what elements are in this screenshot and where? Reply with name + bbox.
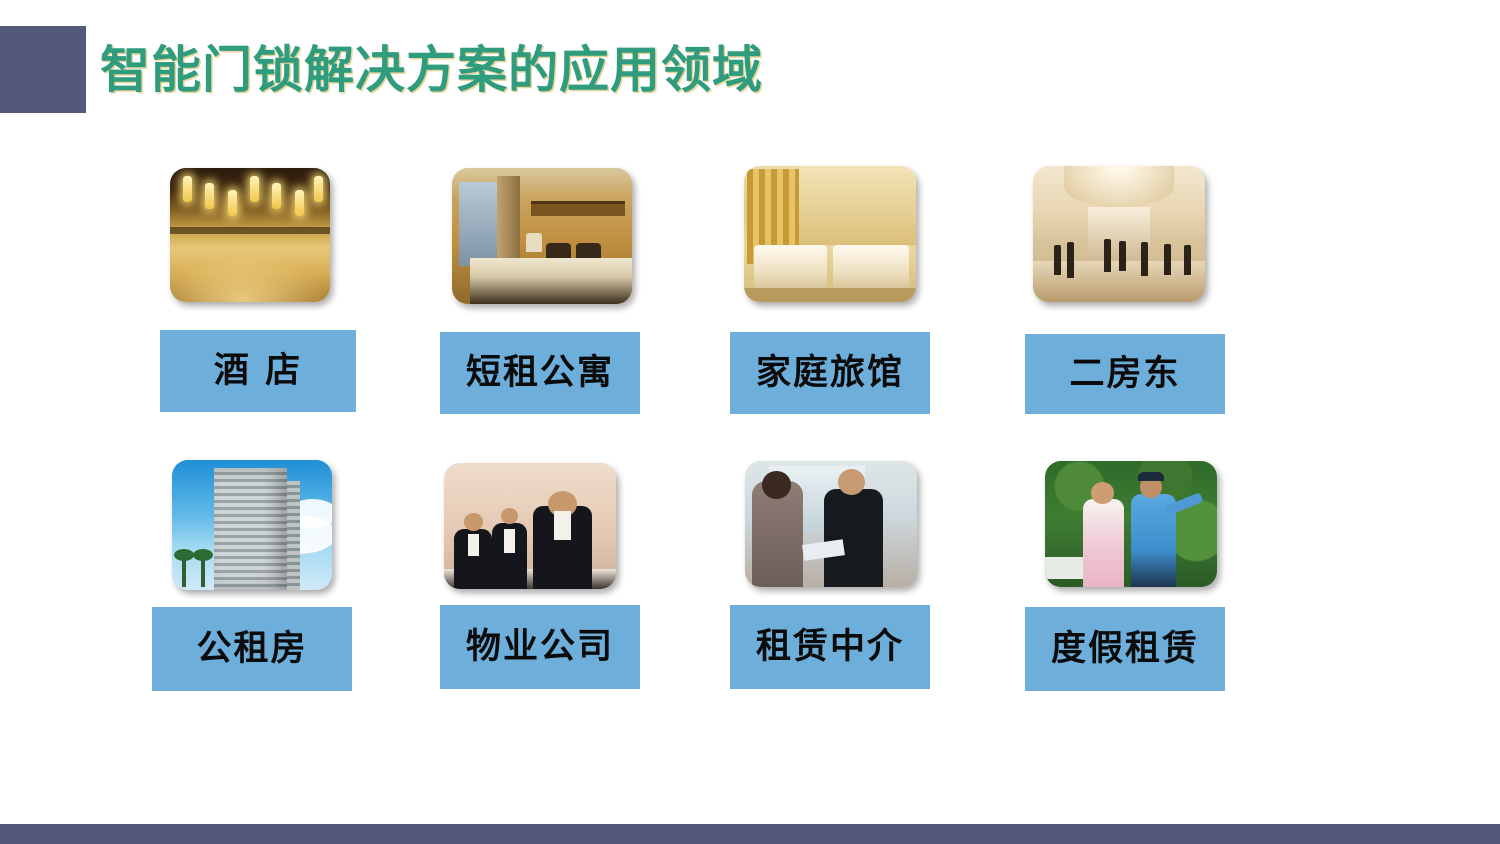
vacation-rental-couple-photo (1045, 461, 1217, 587)
category-label-box: 租赁中介 (730, 605, 930, 689)
thumbnail-artwork (1033, 166, 1205, 302)
thumbnail-artwork (745, 461, 917, 587)
thumbnail-artwork (170, 168, 330, 302)
category-label-text: 酒 店 (214, 354, 302, 389)
grand-lobby-photo (1033, 166, 1205, 302)
category-label-box: 酒 店 (160, 330, 356, 412)
category-label-text: 二房东 (1069, 357, 1180, 392)
thumbnail-artwork (452, 168, 632, 304)
property-management-staff-photo (444, 463, 616, 589)
category-label-text: 短租公寓 (466, 356, 614, 391)
public-rental-highrise-photo (172, 460, 332, 590)
thumbnail-artwork (444, 463, 616, 589)
footer-bar (0, 824, 1500, 844)
leasing-agent-photo (745, 461, 917, 587)
category-label-box: 短租公寓 (440, 332, 640, 414)
thumbnail-artwork (172, 460, 332, 590)
category-label-text: 度假租赁 (1051, 632, 1199, 667)
category-grid: 酒 店短租公寓家庭旅馆二房东公租房物业公司租赁中介度假租赁 (0, 0, 1500, 824)
category-label-box: 物业公司 (440, 605, 640, 689)
thumbnail-artwork (1045, 461, 1217, 587)
category-label-box: 家庭旅馆 (730, 332, 930, 414)
category-label-box: 度假租赁 (1025, 607, 1225, 691)
short-term-apartment-bedroom-photo (452, 168, 632, 304)
category-label-text: 公租房 (196, 632, 307, 667)
category-label-box: 公租房 (152, 607, 352, 691)
family-inn-twin-room-photo (744, 166, 916, 302)
category-label-box: 二房东 (1025, 334, 1225, 414)
hotel-lobby-photo (170, 168, 330, 302)
thumbnail-artwork (744, 166, 916, 302)
category-label-text: 家庭旅馆 (756, 356, 904, 391)
category-label-text: 租赁中介 (756, 630, 904, 665)
category-label-text: 物业公司 (466, 630, 614, 665)
